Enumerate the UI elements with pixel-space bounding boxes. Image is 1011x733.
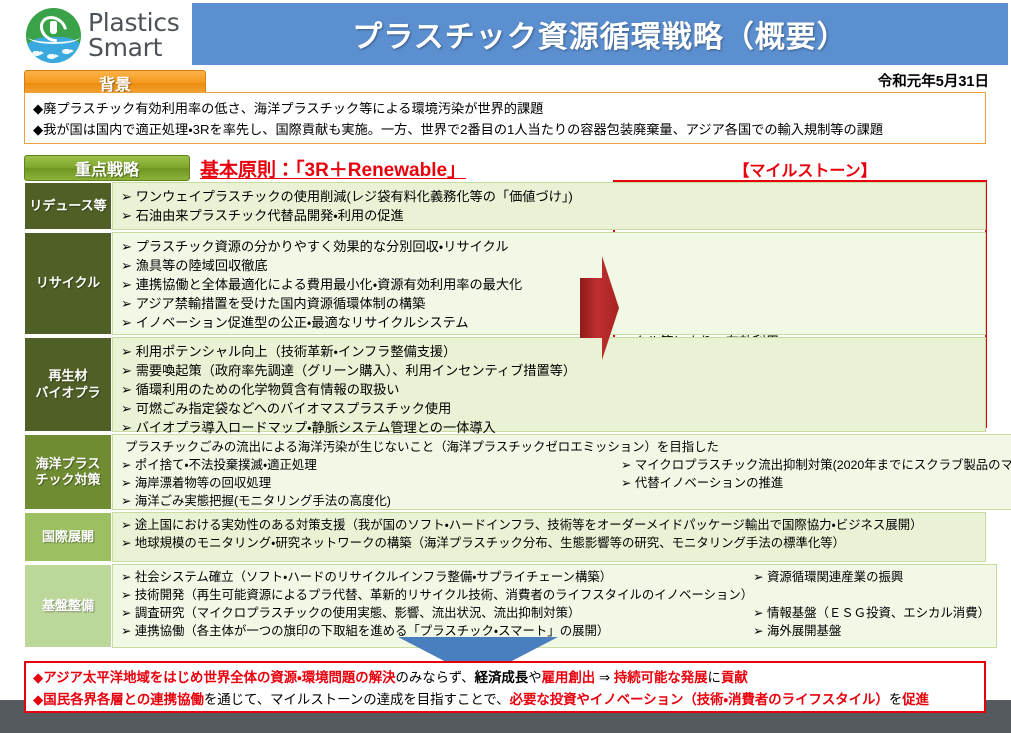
list-item: ➢ ポイ捨て・不法投棄撲滅・適正処理 <box>121 457 621 475</box>
row-content-recycle: ➢ プラスチック資源の分かりやすく効果的な分別回収・リサイクル ➢ 漁具等の陸域… <box>112 232 986 335</box>
list-item: ➢ 調査研究（マイクロプラスチックの使用実態、影響、流出状況、流出抑制対策） <box>121 605 753 623</box>
list-item: ➢ 需要喚起策（政府率先調達（グリーン購入）、利用インセンティブ措置等） <box>121 361 979 380</box>
list-item: ➢ 海外展開基盤 <box>753 623 990 641</box>
list-item: ➢ 利用ポテンシャル向上（技術革新・インフラ整備支援） <box>121 342 979 361</box>
list-item: ➢ 漁具等の陸域回収徹底 <box>121 256 979 275</box>
row-content-marine-plastic: プラスチックごみの流出による海洋汚染が生じないこと（海洋プラスチックゼロエミッシ… <box>112 434 1011 510</box>
basic-principle-heading: 基本原則：「3R＋Renewable」 <box>200 155 466 182</box>
marine-column-right: ➢ マイクロプラスチック流出抑制対策(2020年までにスクラブ製品のマイクロビー… <box>621 457 1011 511</box>
row-label-marine-plastic: 海洋プラスチック対策 <box>24 434 112 510</box>
list-item: ➢ マイクロプラスチック流出抑制対策(2020年までにスクラブ製品のマイクロビー… <box>621 457 1011 475</box>
strategy-row-recycle: リサイクル ➢ プラスチック資源の分かりやすく効果的な分別回収・リサイクル ➢ … <box>24 232 986 335</box>
marine-lead-text: プラスチックごみの流出による海洋汚染が生じないこと（海洋プラスチックゼロエミッシ… <box>121 439 1011 457</box>
row-label-reduce: リデュース等 <box>24 182 112 230</box>
list-item: ➢ 途上国における実効性のある対策支援（我が国のソフト・ハードインフラ、技術等を… <box>121 517 979 535</box>
background-line-2: ◆我が国は国内で適正処理・3Rを率先し、国際貢献も実施。一方、世界で2番目の1人… <box>33 119 977 140</box>
strategy-row-marine-plastic: 海洋プラスチック対策 プラスチックごみの流出による海洋汚染が生じないこと（海洋プ… <box>24 434 986 510</box>
slide-canvas: プラスチック資源循環戦略（概要） Plastics Smart 令和元年5月31… <box>0 0 1011 700</box>
list-item: ➢ ワンウェイプラスチックの使用削減(レジ袋有料化義務化等の「価値づけ」) <box>121 187 979 206</box>
list-item: ➢ 情報基盤（ＥＳＧ投資、エシカル消費） <box>753 605 990 623</box>
list-item: ➢ 可燃ごみ指定袋などへのバイオマスプラスチック使用 <box>121 399 979 418</box>
infra-column-left: ➢ 社会システム確立（ソフト・ハードのリサイクルインフラ整備・サプライチェーン構… <box>121 569 753 640</box>
row-label-recycle: リサイクル <box>24 232 112 335</box>
list-item: ➢ 技術開発（再生可能資源によるプラ代替、革新的リサイクル技術、消費者のライフス… <box>121 587 753 605</box>
row-content-infrastructure: ➢ 社会システム確立（ソフト・ハードのリサイクルインフラ整備・サプライチェーン構… <box>112 564 997 648</box>
infra-column-right: ➢ 資源循環関連産業の振興 ➢ 情報基盤（ＥＳＧ投資、エシカル消費） ➢ 海外展… <box>753 569 990 640</box>
blue-down-arrow-icon <box>398 637 558 664</box>
row-label-international: 国際展開 <box>24 512 112 562</box>
list-item: ➢ アジア禁輸措置を受けた国内資源循環体制の構築 <box>121 294 979 313</box>
logo-text-line2: Smart <box>88 35 179 61</box>
list-item: ➢ 石油由来プラスチック代替品開発・利用の促進 <box>121 206 979 225</box>
logo-emblem-icon <box>26 8 81 63</box>
row-content-recycled-bioplastic: ➢ 利用ポテンシャル向上（技術革新・インフラ整備支援） ➢ 需要喚起策（政府率先… <box>112 337 986 432</box>
page-header: プラスチック資源循環戦略（概要） Plastics Smart <box>0 0 1011 66</box>
logo-wordmark: Plastics Smart <box>88 10 179 61</box>
list-item: ➢ 代替イノベーションの推進 <box>621 475 1011 493</box>
red-right-arrow-icon <box>578 256 620 360</box>
list-item: ➢ 社会システム確立（ソフト・ハードのリサイクルインフラ整備・サプライチェーン構… <box>121 569 753 587</box>
section-tab-strategy: 重点戦略 <box>24 155 190 181</box>
strategy-row-international: 国際展開 ➢ 途上国における実効性のある対策支援（我が国のソフト・ハードインフラ… <box>24 512 986 562</box>
list-item <box>753 587 990 605</box>
marine-column-left: ➢ ポイ捨て・不法投棄撲滅・適正処理 ➢ 海岸漂着物等の回収処理 ➢ 海洋ごみ実… <box>121 457 621 511</box>
strategy-row-recycled-bioplastic: 再生材バイオプラ ➢ 利用ポテンシャル向上（技術革新・インフラ整備支援） ➢ 需… <box>24 337 986 432</box>
background-line-1: ◆廃プラスチック有効利用率の低さ、海洋プラスチック等による環境汚染が世界的課題 <box>33 98 977 119</box>
row-content-international: ➢ 途上国における実効性のある対策支援（我が国のソフト・ハードインフラ、技術等を… <box>112 512 986 562</box>
strategy-row-reduce: リデュース等 ➢ ワンウェイプラスチックの使用削減(レジ袋有料化義務化等の「価値… <box>24 182 986 230</box>
row-label-infrastructure: 基盤整備 <box>24 564 112 648</box>
list-item: ➢ 資源循環関連産業の振興 <box>753 569 990 587</box>
page-title: プラスチック資源循環戦略（概要） <box>192 3 1008 65</box>
logo-text-line1: Plastics <box>88 10 179 36</box>
plastics-smart-logo: Plastics Smart <box>26 4 192 66</box>
list-item: ➢ 連携協働と全体最適化による費用最小化・資源有効利用率の最大化 <box>121 275 979 294</box>
list-item: ➢ 循環利用のための化学物質含有情報の取扱い <box>121 380 979 399</box>
list-item: ➢ プラスチック資源の分かりやすく効果的な分別回収・リサイクル <box>121 237 979 256</box>
list-item: ➢ 地球規模のモニタリング・研究ネットワークの構築（海洋プラスチック分布、生態影… <box>121 535 979 553</box>
milestone-heading: 【マイルストーン】 <box>610 157 1000 181</box>
list-item: ➢ イノベーション促進型の公正・最適なリサイクルシステム <box>121 313 979 332</box>
conclusion-line-1: ◆アジア太平洋地域をはじめ世界全体の資源・環境問題の解決のみならず、経済成長や雇… <box>33 667 977 689</box>
list-item: ➢ 海洋ごみ実態把握(モニタリング手法の高度化) <box>121 493 621 511</box>
conclusion-line-2: ◆国民各界各層との連携協働を通じて、マイルストーンの達成を目指すことで、必要な投… <box>33 689 977 711</box>
background-box: ◆廃プラスチック有効利用率の低さ、海洋プラスチック等による環境汚染が世界的課題 … <box>24 92 986 144</box>
row-content-reduce: ➢ ワンウェイプラスチックの使用削減(レジ袋有料化義務化等の「価値づけ」) ➢ … <box>112 182 986 230</box>
document-date: 令和元年5月31日 <box>878 70 989 91</box>
conclusion-box: ◆アジア太平洋地域をはじめ世界全体の資源・環境問題の解決のみならず、経済成長や雇… <box>24 661 986 713</box>
strategy-row-infrastructure: 基盤整備 ➢ 社会システム確立（ソフト・ハードのリサイクルインフラ整備・サプライ… <box>24 564 986 648</box>
row-label-recycled-bioplastic: 再生材バイオプラ <box>24 337 112 432</box>
list-item: ➢ 海岸漂着物等の回収処理 <box>121 475 621 493</box>
